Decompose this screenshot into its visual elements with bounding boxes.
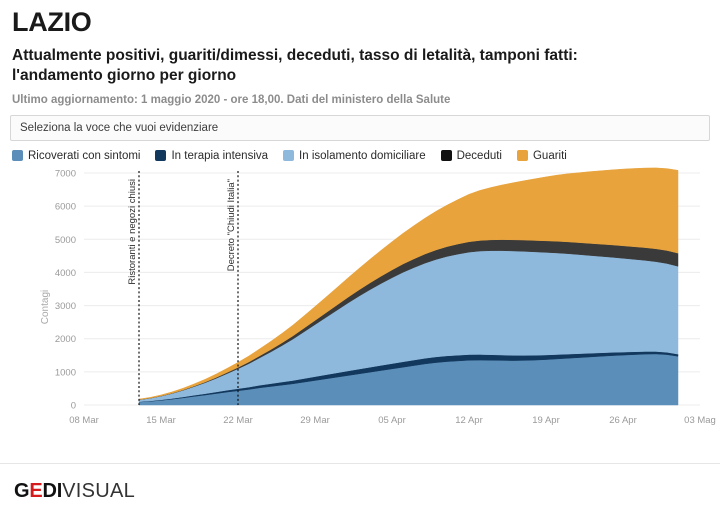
logo-e: E xyxy=(29,480,42,502)
gedi-visual-logo: GEDIVISUAL xyxy=(14,480,135,503)
logo-di: DI xyxy=(43,480,63,502)
x-axis-tick-label: 19 Apr xyxy=(532,415,559,426)
x-axis-tick-label: 05 Apr xyxy=(378,415,405,426)
logo-g: G xyxy=(14,480,29,502)
header: LAZIO Attualmente positivi, guariti/dime… xyxy=(0,0,720,106)
stacked-area-chart[interactable]: 01000200030004000500060007000Contagi08 M… xyxy=(0,166,720,436)
y-axis-tick-label: 2000 xyxy=(55,334,76,345)
legend-item-label: Deceduti xyxy=(457,150,502,162)
legend-item-label: In terapia intensiva xyxy=(171,150,268,162)
legend-item-2[interactable]: In isolamento domiciliare xyxy=(283,150,426,162)
x-axis-tick-label: 22 Mar xyxy=(223,415,253,426)
y-axis-tick-label: 6000 xyxy=(55,202,76,213)
legend-item-4[interactable]: Guariti xyxy=(517,150,567,162)
footer: GEDIVISUAL xyxy=(0,463,720,523)
legend-swatch-icon xyxy=(517,150,528,161)
legend-swatch-icon xyxy=(12,150,23,161)
annotation-label-0: Ristoranti e negozi chiusi xyxy=(127,179,138,285)
logo-visual: VISUAL xyxy=(62,480,135,502)
highlight-select-placeholder: Seleziona la voce che vuoi evidenziare xyxy=(20,122,218,134)
x-axis-tick-label: 29 Mar xyxy=(300,415,330,426)
page-root: LAZIO Attualmente positivi, guariti/dime… xyxy=(0,0,720,523)
legend-swatch-icon xyxy=(155,150,166,161)
highlight-select[interactable]: Seleziona la voce che vuoi evidenziare xyxy=(10,115,710,141)
x-axis-tick-label: 26 Apr xyxy=(609,415,636,426)
last-updated-text: Ultimo aggiornamento: 1 maggio 2020 - or… xyxy=(12,94,708,106)
legend-item-1[interactable]: In terapia intensiva xyxy=(155,150,268,162)
page-title: LAZIO xyxy=(12,8,708,38)
legend-item-label: In isolamento domiciliare xyxy=(299,150,426,162)
page-subtitle: Attualmente positivi, guariti/dimessi, d… xyxy=(12,46,672,87)
x-axis-tick-label: 03 Mag xyxy=(684,415,716,426)
annotation-label-1: Decreto "Chiudi Italia" xyxy=(226,179,237,271)
legend-item-label: Guariti xyxy=(533,150,567,162)
legend-item-label: Ricoverati con sintomi xyxy=(28,150,140,162)
y-axis-tick-label: 3000 xyxy=(55,301,76,312)
legend-item-3[interactable]: Deceduti xyxy=(441,150,502,162)
y-axis-title: Contagi xyxy=(40,290,51,324)
legend-swatch-icon xyxy=(283,150,294,161)
x-axis-tick-label: 12 Apr xyxy=(455,415,482,426)
y-axis-tick-label: 4000 xyxy=(55,268,76,279)
y-axis-tick-label: 0 xyxy=(71,400,76,411)
y-axis-tick-label: 1000 xyxy=(55,367,76,378)
y-axis-tick-label: 7000 xyxy=(55,168,76,179)
y-axis-tick-label: 5000 xyxy=(55,235,76,246)
legend-swatch-icon xyxy=(441,150,452,161)
chart-container: 01000200030004000500060007000Contagi08 M… xyxy=(0,166,720,436)
chart-legend: Ricoverati con sintomiIn terapia intensi… xyxy=(0,141,720,162)
x-axis-tick-label: 15 Mar xyxy=(146,415,176,426)
x-axis-tick-label: 08 Mar xyxy=(69,415,99,426)
legend-item-0[interactable]: Ricoverati con sintomi xyxy=(12,150,140,162)
